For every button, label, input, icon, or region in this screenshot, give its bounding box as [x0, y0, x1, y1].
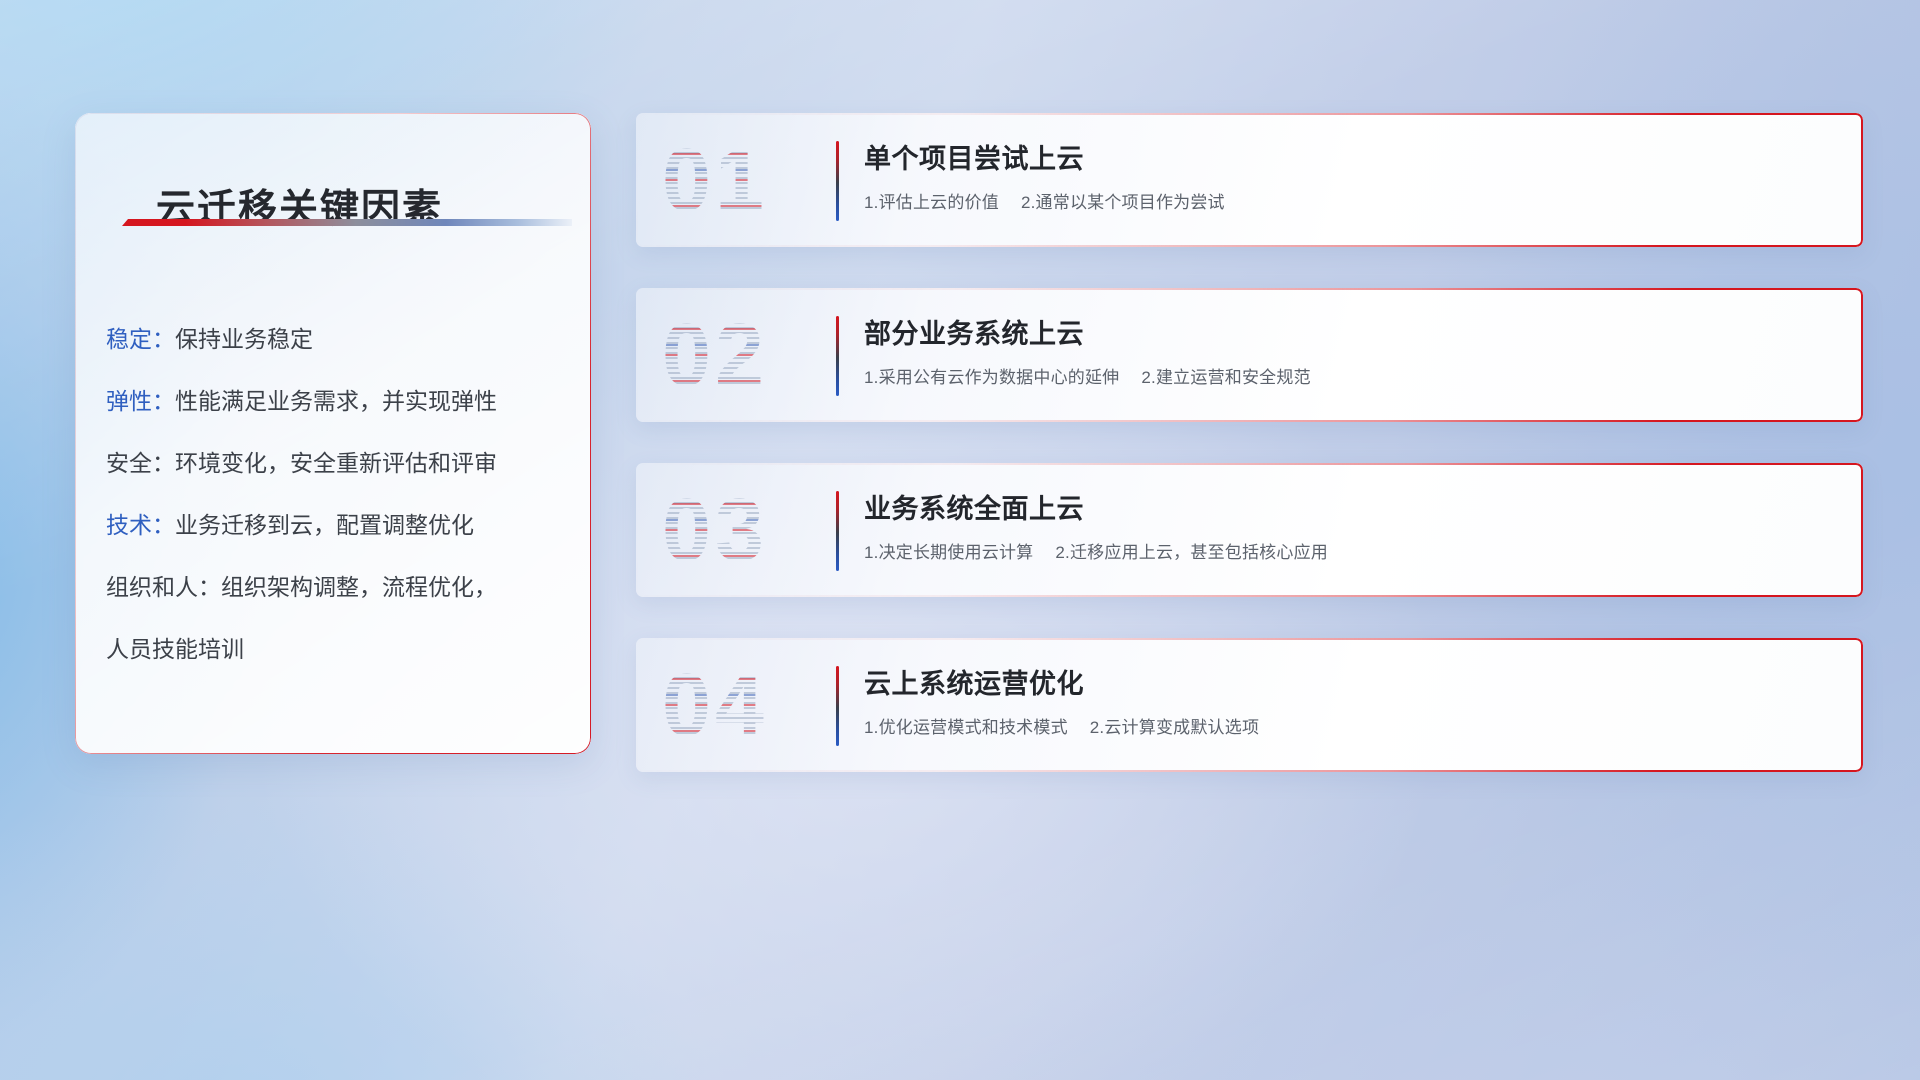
factor-key: 技术： [106, 512, 175, 538]
factor-item-organization: 组织和人：组织架构调整，流程优化， [106, 556, 576, 618]
factor-key: 稳定： [106, 326, 175, 352]
stage-point-1: 1.采用公有云作为数据中心的延伸 [864, 368, 1119, 387]
stage-number-02-tint: 02 [662, 302, 808, 408]
stage-point-2: 2.迁移应用上云，甚至包括核心应用 [1055, 543, 1328, 562]
title-underline-gradient [122, 219, 572, 226]
factor-value: 业务迁移到云，配置调整优化 [175, 512, 474, 538]
stage-number-04-tint: 04 [662, 652, 808, 758]
stage-points: 1.决定长期使用云计算2.迁移应用上云，甚至包括核心应用 [864, 538, 1837, 563]
key-factors-panel: 云迁移关键因素 稳定：保持业务稳定 弹性：性能满足业务需求，并实现弹性 安全：环… [75, 113, 591, 754]
stage-point-1: 1.评估上云的价值 [864, 193, 999, 212]
card-accent-bar [836, 666, 839, 746]
factor-item-organization-continued: 人员技能培训 [106, 618, 576, 680]
factor-list: 稳定：保持业务稳定 弹性：性能满足业务需求，并实现弹性 安全：环境变化，安全重新… [106, 308, 576, 680]
card-accent-bar [836, 491, 839, 571]
stage-point-1: 1.优化运营模式和技术模式 [864, 718, 1068, 737]
stage-point-2: 2.通常以某个项目作为尝试 [1021, 193, 1225, 212]
factor-value: 人员技能培训 [106, 636, 244, 662]
stage-points: 1.评估上云的价值2.通常以某个项目作为尝试 [864, 188, 1837, 213]
stage-card-01[interactable]: 01 01 单个项目尝试上云 1.评估上云的价值2.通常以某个项目作为尝试 [636, 113, 1863, 247]
stage-number-03-tint: 03 [662, 477, 808, 583]
stage-card-02[interactable]: 02 02 部分业务系统上云 1.采用公有云作为数据中心的延伸2.建立运营和安全… [636, 288, 1863, 422]
factor-item-technology: 技术：业务迁移到云，配置调整优化 [106, 494, 576, 556]
card-accent-bar [836, 141, 839, 221]
stage-title: 云上系统运营优化 [864, 662, 1837, 701]
factor-value: 组织架构调整，流程优化， [221, 574, 497, 600]
stage-number-01-tint: 01 [662, 127, 808, 233]
factor-item-security: 安全：环境变化，安全重新评估和评审 [106, 432, 576, 494]
stage-point-2: 2.建立运营和安全规范 [1141, 368, 1310, 387]
stage-title: 部分业务系统上云 [864, 312, 1837, 351]
stage-points: 1.优化运营模式和技术模式2.云计算变成默认选项 [864, 713, 1837, 738]
factor-value: 环境变化，安全重新评估和评审 [175, 450, 497, 476]
factor-value: 保持业务稳定 [175, 326, 313, 352]
stage-card-list: 01 01 单个项目尝试上云 1.评估上云的价值2.通常以某个项目作为尝试 02… [636, 113, 1863, 813]
stage-card-04[interactable]: 04 04 云上系统运营优化 1.优化运营模式和技术模式2.云计算变成默认选项 [636, 638, 1863, 772]
card-accent-bar [836, 316, 839, 396]
stage-title: 业务系统全面上云 [864, 487, 1837, 526]
factor-key: 组织和人： [106, 574, 221, 600]
stage-point-2: 2.云计算变成默认选项 [1090, 718, 1259, 737]
stage-title: 单个项目尝试上云 [864, 137, 1837, 176]
stage-card-03[interactable]: 03 03 业务系统全面上云 1.决定长期使用云计算2.迁移应用上云，甚至包括核… [636, 463, 1863, 597]
factor-key: 弹性： [106, 388, 175, 414]
stage-point-1: 1.决定长期使用云计算 [864, 543, 1033, 562]
factor-item-stability: 稳定：保持业务稳定 [106, 308, 576, 370]
factor-value: 性能满足业务需求，并实现弹性 [175, 388, 497, 414]
factor-item-elasticity: 弹性：性能满足业务需求，并实现弹性 [106, 370, 576, 432]
stage-points: 1.采用公有云作为数据中心的延伸2.建立运营和安全规范 [864, 363, 1837, 388]
factor-key: 安全： [106, 450, 175, 476]
